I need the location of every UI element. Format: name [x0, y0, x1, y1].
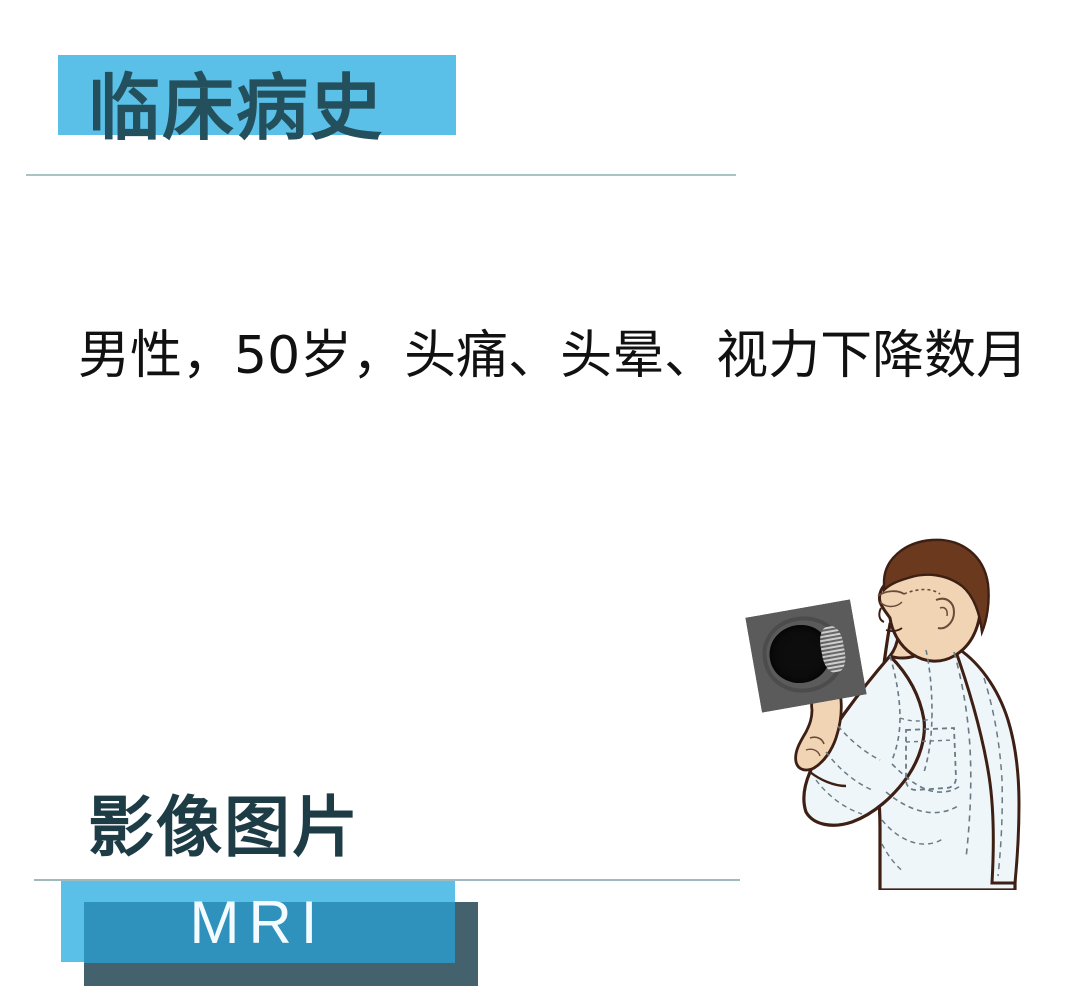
imaging-heading: 影像图片 — [88, 795, 360, 861]
doctor-illustration — [740, 528, 1046, 890]
clinical-history-divider — [26, 174, 736, 176]
clinical-history-text: 男性，50岁，头痛、头晕、视力下降数月 — [78, 327, 1018, 387]
clinical-history-heading: 临床病史 — [88, 72, 384, 144]
brain-mri-film — [745, 600, 866, 713]
mri-modality-label: MRI — [61, 893, 455, 953]
slide-root: 临床病史 男性，50岁，头痛、头晕、视力下降数月 — [0, 0, 1080, 1000]
